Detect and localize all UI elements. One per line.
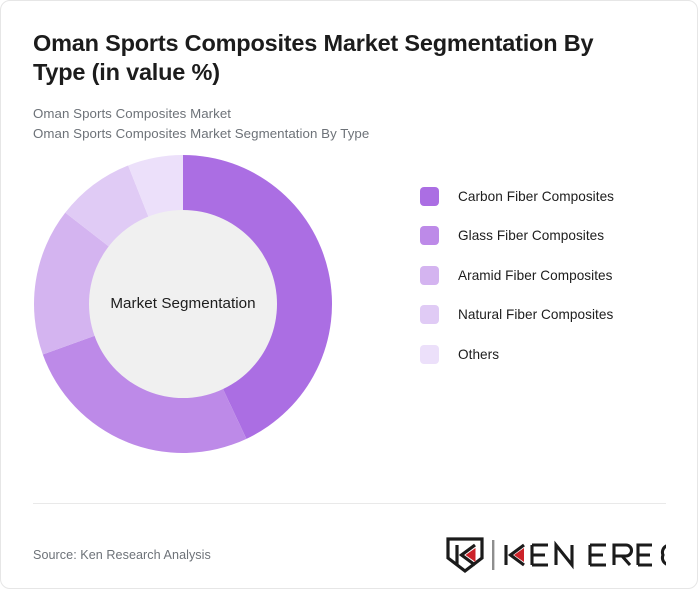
legend-item[interactable]: Natural Fiber Composites: [420, 295, 670, 335]
subtitle-segmentation: Oman Sports Composites Market Segmentati…: [33, 124, 663, 144]
legend-item[interactable]: Glass Fiber Composites: [420, 216, 670, 256]
ken-research-logo-icon: [444, 536, 666, 574]
legend-item-label: Carbon Fiber Composites: [458, 189, 614, 204]
subtitle-group: Oman Sports Composites Market Oman Sport…: [33, 104, 663, 144]
chart-footer: Source: Ken Research Analysis: [33, 503, 666, 588]
legend-item-label: Aramid Fiber Composites: [458, 268, 613, 283]
chart-body: Market Segmentation Carbon Fiber Composi…: [1, 145, 697, 475]
donut-svg: [33, 154, 333, 454]
source-note: Source: Ken Research Analysis: [33, 530, 211, 562]
donut-hole: [89, 210, 277, 398]
donut-chart: Market Segmentation: [33, 154, 333, 454]
page-title: Oman Sports Composites Market Segmentati…: [33, 29, 643, 87]
chart-card: Oman Sports Composites Market Segmentati…: [0, 0, 698, 589]
legend-item[interactable]: Others: [420, 335, 670, 375]
chart-header: Oman Sports Composites Market Segmentati…: [1, 1, 697, 145]
legend-item[interactable]: Carbon Fiber Composites: [420, 177, 670, 217]
subtitle-market: Oman Sports Composites Market: [33, 104, 663, 124]
legend-item-label: Glass Fiber Composites: [458, 228, 604, 243]
chart-legend: Carbon Fiber CompositesGlass Fiber Compo…: [420, 177, 670, 375]
legend-swatch-icon: [420, 345, 439, 364]
legend-item-label: Natural Fiber Composites: [458, 307, 613, 322]
legend-swatch-icon: [420, 226, 439, 245]
legend-item-label: Others: [458, 347, 499, 362]
brand-logo: [444, 518, 666, 574]
legend-swatch-icon: [420, 187, 439, 206]
legend-swatch-icon: [420, 266, 439, 285]
legend-swatch-icon: [420, 305, 439, 324]
legend-item[interactable]: Aramid Fiber Composites: [420, 256, 670, 296]
